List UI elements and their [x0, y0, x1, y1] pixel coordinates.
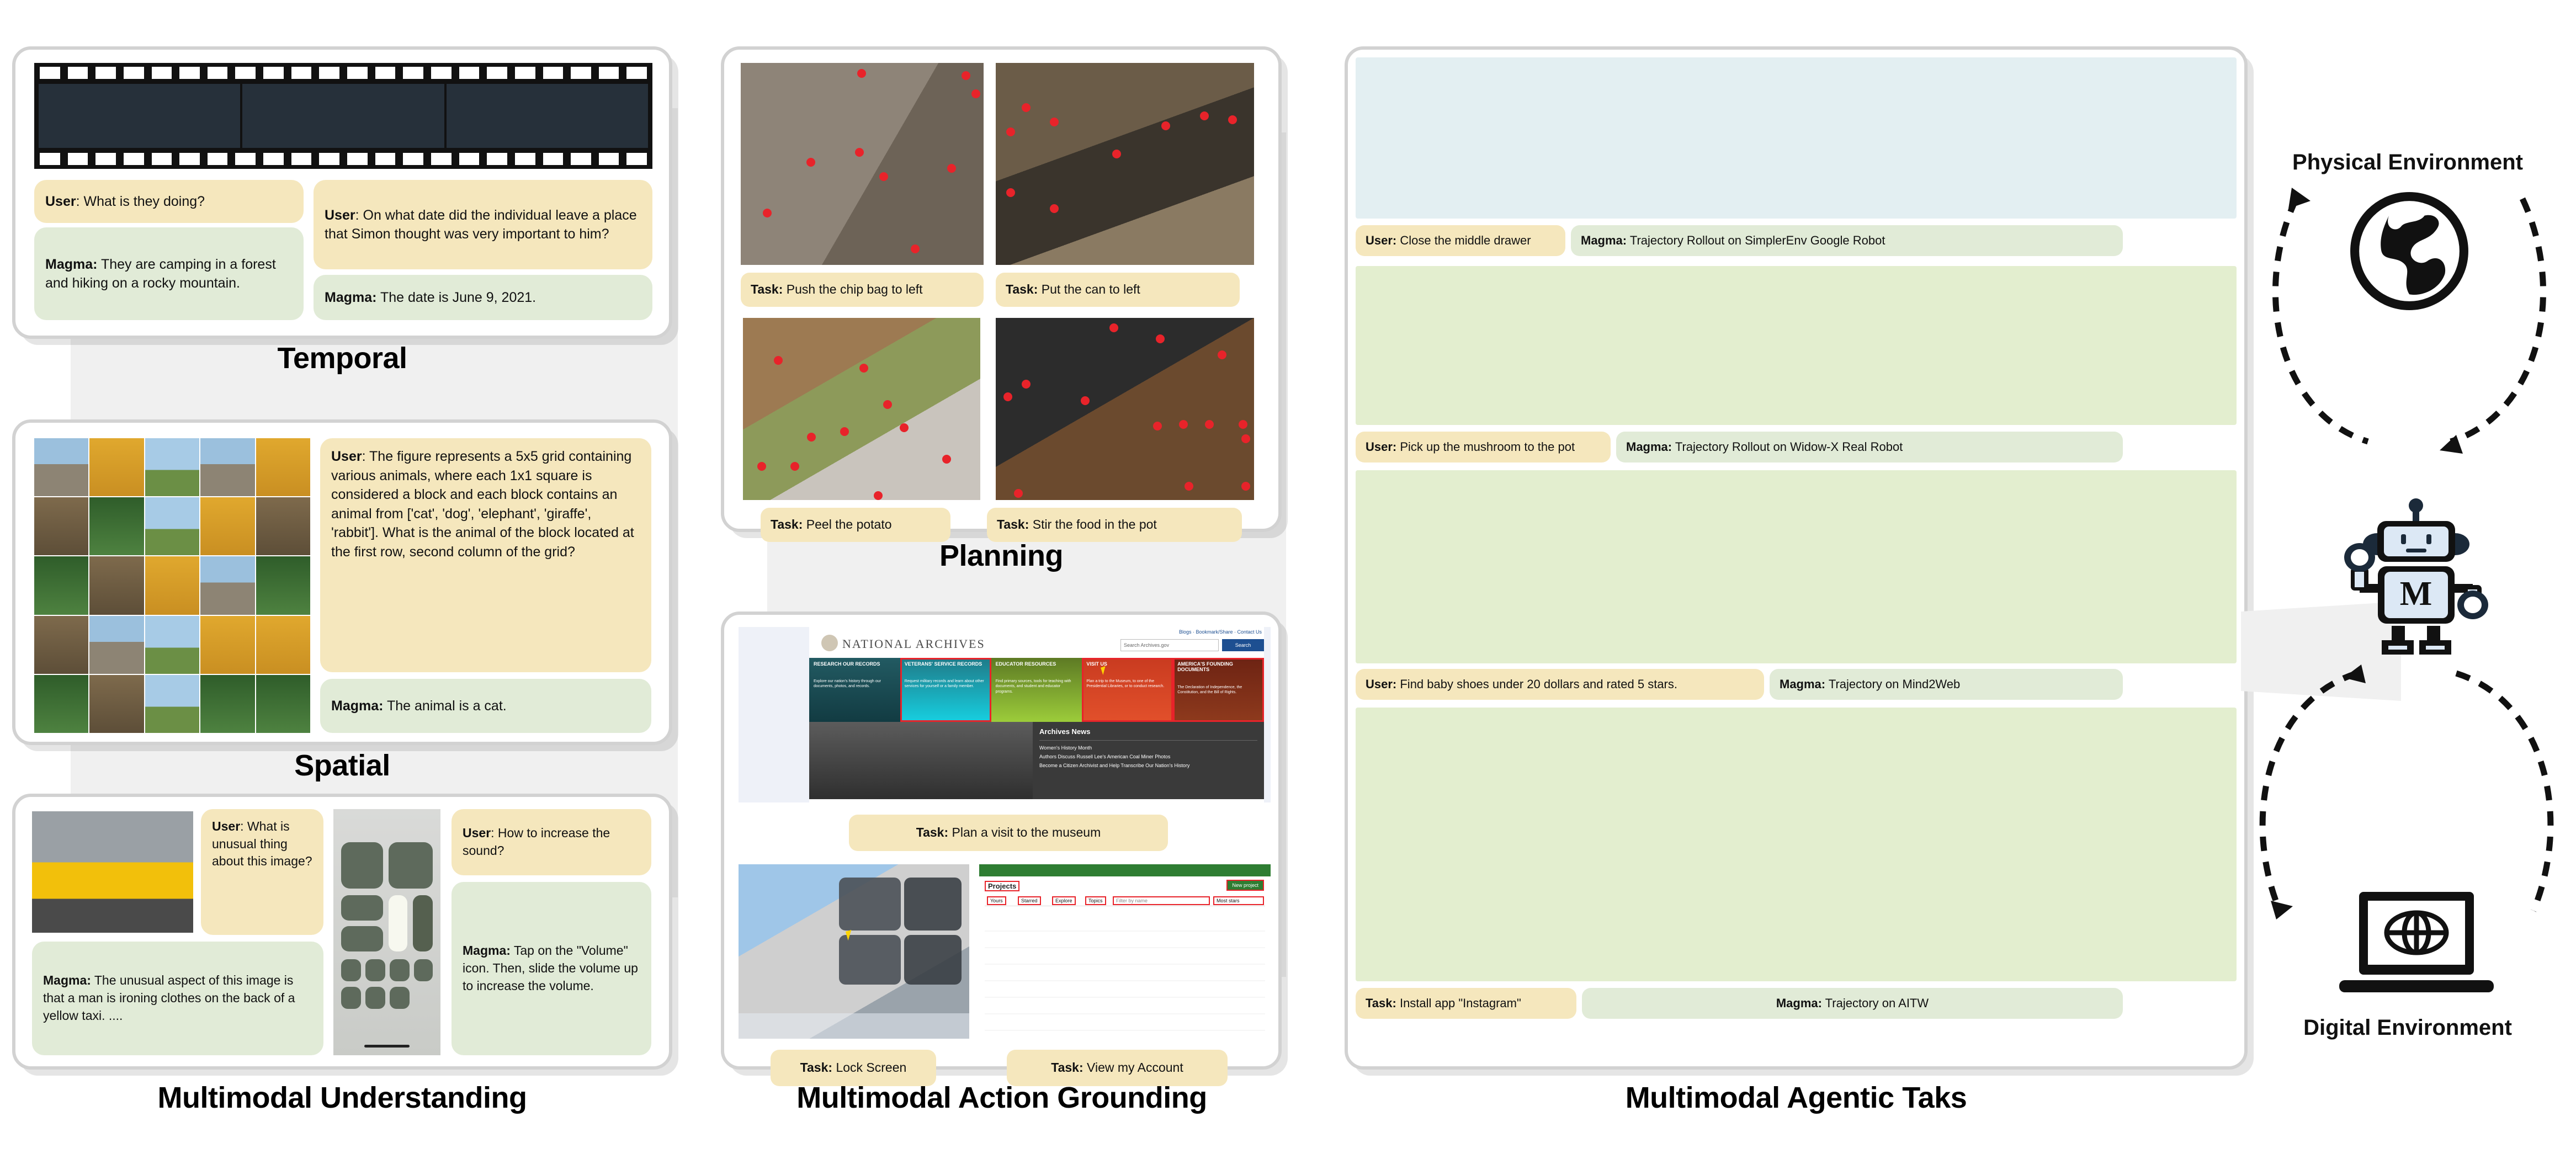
animal-cell-dog: [34, 497, 88, 555]
animal-cell-giraffe: [145, 497, 199, 555]
animal-cell-giraffe: [145, 438, 199, 496]
magma-label: Magma:: [43, 973, 91, 987]
animal-cell-dog: [34, 616, 88, 674]
task-text: Push the chip bag to left: [783, 282, 922, 296]
task-label: Task:: [1006, 282, 1038, 296]
section-title-temporal: Temporal: [12, 341, 672, 375]
agentic-row3-magma: Magma: Trajectory on Mind2Web: [1770, 669, 2123, 700]
user-label: User: [331, 449, 362, 464]
user-text: Find baby shoes under 20 dollars and rat…: [1396, 677, 1677, 691]
gitlab-new-project-button[interactable]: New project: [1226, 880, 1264, 891]
grounding-task-1: Task: Plan a visit to the museum: [849, 815, 1168, 851]
filmstrip-temporal: [34, 63, 652, 169]
task-label: Task:: [997, 517, 1029, 531]
panel-temporal: User: What is they doing? Magma: They ar…: [12, 46, 672, 339]
archives-tile-founding[interactable]: AMERICA'S FOUNDING DOCUMENTSThe Declarat…: [1173, 658, 1264, 722]
planning-task-3: Task: Peel the potato: [761, 508, 950, 542]
magma-label: Magma:: [1776, 996, 1822, 1010]
video-frame-rocks: [447, 84, 648, 148]
archives-news-item[interactable]: Women's History Month: [1039, 745, 1257, 751]
animal-cell-elephant: [200, 556, 254, 614]
task-label: Task:: [771, 517, 803, 531]
user-text: Pick up the mushroom to the pot: [1396, 440, 1575, 454]
animal-cell-rabbit: [256, 675, 310, 733]
laptop-icon: [2334, 886, 2499, 1008]
archives-news-item[interactable]: Authors Discuss Russell Lee's American C…: [1039, 754, 1257, 759]
task-text: Stir the food in the pot: [1029, 517, 1156, 531]
agentic-row4-magma: Magma: Trajectory on AITW: [1582, 988, 2123, 1019]
animal-cell-rabbit: [200, 675, 254, 733]
action-markers: [743, 318, 980, 500]
understanding-left-user-bubble: User: What is unusual thing about this i…: [201, 809, 323, 935]
archives-tile-visit-us[interactable]: VISIT USPlan a trip to the Museum, to on…: [1082, 658, 1173, 722]
user-label: User:: [1366, 677, 1396, 691]
user-text: Close the middle drawer: [1396, 233, 1531, 247]
animal-cell-cat: [256, 616, 310, 674]
animal-cell-dog: [89, 675, 144, 733]
spatial-user-bubble: User: The figure represents a 5x5 grid c…: [320, 438, 651, 672]
animal-cell-dog: [256, 497, 310, 555]
agentic-row2-magma: Magma: Trajectory Rollout on Widow-X Rea…: [1616, 432, 2123, 462]
agentic-row2-user: User: Pick up the mushroom to the pot: [1356, 432, 1611, 462]
magma-text: Trajectory on Mind2Web: [1825, 677, 1960, 691]
agentic-row1-magma: Magma: Trajectory Rollout on SimplerEnv …: [1571, 225, 2123, 256]
magma-label: Magma:: [1581, 233, 1627, 247]
task-label: Task:: [1366, 996, 1396, 1010]
temporal-left-user-bubble: User: What is they doing?: [34, 180, 304, 223]
user-label: User: [45, 194, 76, 209]
animal-cell-rabbit: [34, 675, 88, 733]
task-text: Install app "Instagram": [1396, 996, 1521, 1010]
section-title-planning: Planning: [721, 539, 1282, 573]
photo-taxi-ironing: [32, 811, 193, 933]
panel-grounding: NATIONAL ARCHIVES Blogs · Bookmark/Share…: [721, 612, 1282, 1070]
magma-text: Trajectory Rollout on SimplerEnv Google …: [1627, 233, 1885, 247]
animal-cell-rabbit: [256, 556, 310, 614]
panel-planning: Task: Push the chip bag to left Task: Pu…: [721, 46, 1282, 532]
task-label: Task:: [751, 282, 783, 296]
panel-agentic: User: Close the middle drawer Magma: Tra…: [1345, 46, 2248, 1070]
dashed-loop-physical: [2258, 182, 2567, 491]
gitlab-tab-topics[interactable]: Topics: [1085, 896, 1106, 905]
animal-cell-cat: [200, 616, 254, 674]
agentic-row1-user: User: Close the middle drawer: [1356, 225, 1565, 256]
gitlab-sort-select[interactable]: Most stars: [1213, 896, 1264, 905]
section-title-spatial: Spatial: [12, 748, 672, 783]
photo-can-drawer-scene: [996, 63, 1254, 265]
planning-task-1: Task: Push the chip bag to left: [741, 273, 984, 307]
magma-text: The date is June 9, 2021.: [376, 290, 536, 305]
archives-news-item[interactable]: Become a Citizen Archivist and Help Tran…: [1039, 763, 1257, 768]
video-frame-camping: [39, 84, 240, 148]
magma-label: Magma:: [45, 257, 97, 272]
panel-spatial: User: The figure represents a 5x5 grid c…: [12, 419, 672, 745]
magma-text: Trajectory on AITW: [1822, 996, 1929, 1010]
understanding-right-user-bubble: User: How to increase the sound?: [452, 809, 651, 875]
understanding-right-magma-bubble: Magma: Tap on the "Volume" icon. Then, s…: [452, 882, 651, 1055]
photo-chipbag-scene: [741, 63, 984, 265]
gitlab-projects-title: Projects: [985, 881, 1019, 891]
spatial-magma-bubble: Magma: The animal is a cat.: [320, 679, 651, 733]
task-text: Plan a visit to the museum: [948, 825, 1101, 839]
animal-cell-elephant: [200, 438, 254, 496]
understanding-left-magma-bubble: Magma: The unusual aspect of this image …: [32, 942, 323, 1055]
section-title-understanding: Multimodal Understanding: [7, 1081, 678, 1115]
animal-grid: [34, 438, 310, 733]
robot-icon: M: [2343, 497, 2489, 662]
archives-brand: NATIONAL ARCHIVES: [842, 637, 985, 651]
user-label: User: [325, 208, 355, 223]
magma-label: Magma:: [1780, 677, 1825, 691]
magma-text: The animal is a cat.: [383, 698, 506, 714]
magma-label: Magma:: [331, 698, 383, 714]
strip-simplerenv: [1360, 62, 2232, 214]
archives-tile-research[interactable]: RESEARCH OUR RECORDSExplore our nation's…: [809, 658, 900, 722]
action-markers: [741, 63, 984, 265]
strip-mind2web: [1361, 476, 2231, 658]
photo-ios-control-center: [333, 809, 440, 1055]
cursor-icon: [1101, 666, 1108, 675]
archives-news-title: Archives News: [1039, 727, 1257, 736]
task-label: Task:: [1051, 1060, 1083, 1075]
magma-label: Magma:: [325, 290, 376, 305]
digital-environment-label: Digital Environment: [2270, 1016, 2546, 1040]
magma-label: Magma:: [463, 943, 511, 958]
strip-widowx-bottom: [1360, 348, 2232, 422]
user-label: User: [463, 826, 491, 840]
task-text: View my Account: [1083, 1060, 1183, 1075]
animal-cell-cat: [89, 438, 144, 496]
archives-search-button[interactable]: Search: [1222, 639, 1264, 651]
panel-understanding: User: What is unusual thing about this i…: [12, 794, 672, 1070]
task-label: Task:: [800, 1060, 832, 1075]
photo-peel-potato-scene: [743, 318, 980, 500]
task-text: Peel the potato: [803, 517, 891, 531]
animal-cell-elephant: [89, 616, 144, 674]
animal-cell-rabbit: [34, 556, 88, 614]
animal-cell-rabbit: [89, 497, 144, 555]
task-label: Task:: [916, 825, 948, 839]
photo-stir-pot-scene: [996, 318, 1254, 500]
video-frame-tent: [242, 84, 444, 148]
agentic-row3-user: User: Find baby shoes under 20 dollars a…: [1356, 669, 1764, 700]
animal-cell-giraffe: [145, 616, 199, 674]
archives-tile-educator[interactable]: EDUCATOR RESOURCESFind primary sources, …: [991, 658, 1082, 722]
agentic-row4-task: Task: Install app "Instagram": [1356, 988, 1576, 1019]
animal-cell-giraffe: [145, 675, 199, 733]
archives-search-input[interactable]: Search Archives.gov: [1120, 639, 1219, 651]
gitlab-tab-yours[interactable]: Yours: [987, 896, 1006, 905]
screenshot-mac-control-center: [739, 864, 969, 1039]
screenshot-gitlab-projects: Projects New project Yours Starred Explo…: [979, 864, 1271, 1039]
user-text: The figure represents a 5x5 grid contain…: [331, 449, 634, 560]
animal-cell-elephant: [34, 438, 88, 496]
user-label: User:: [1366, 440, 1396, 454]
physical-environment-label: Physical Environment: [2270, 150, 2546, 175]
strip-widowx-top: [1360, 269, 2232, 345]
animal-cell-cat: [200, 497, 254, 555]
svg-text:M: M: [2400, 575, 2432, 613]
temporal-left-magma-bubble: Magma: They are camping in a forest and …: [34, 227, 304, 320]
user-text: On what date did the individual leave a …: [325, 208, 637, 242]
gitlab-filter-input[interactable]: Filter by name: [1113, 896, 1210, 905]
gitlab-tab-starred[interactable]: Starred: [1018, 896, 1041, 905]
action-markers: [996, 63, 1254, 265]
user-text: What is they doing?: [80, 194, 205, 209]
section-title-agentic: Multimodal Agentic Taks: [1345, 1081, 2248, 1115]
strip-aitw: [1361, 713, 2231, 976]
archives-toplinks: Blogs · Bookmark/Share · Contact Us: [1179, 629, 1262, 635]
planning-task-4: Task: Stir the food in the pot: [987, 508, 1242, 542]
action-markers: [996, 318, 1254, 500]
temporal-right-user-bubble: User: On what date did the individual le…: [314, 180, 652, 269]
section-title-grounding: Multimodal Action Grounding: [712, 1081, 1292, 1115]
magma-label: Magma:: [1626, 440, 1672, 454]
gitlab-tab-explore[interactable]: Explore: [1052, 896, 1076, 905]
user-label: User:: [1366, 233, 1396, 247]
task-text: Lock Screen: [832, 1060, 906, 1075]
magma-text: Trajectory Rollout on Widow-X Real Robot: [1672, 440, 1903, 454]
user-label: User: [212, 819, 240, 833]
animal-cell-cat: [256, 438, 310, 496]
temporal-right-magma-bubble: Magma: The date is June 9, 2021.: [314, 275, 652, 320]
task-text: Put the can to left: [1038, 282, 1140, 296]
planning-task-2: Task: Put the can to left: [996, 273, 1240, 307]
screenshot-national-archives: NATIONAL ARCHIVES Blogs · Bookmark/Share…: [739, 627, 1271, 802]
archives-tile-veterans[interactable]: VETERANS' SERVICE RECORDSRequest militar…: [900, 658, 991, 722]
animal-cell-cat: [145, 556, 199, 614]
animal-cell-dog: [89, 556, 144, 614]
